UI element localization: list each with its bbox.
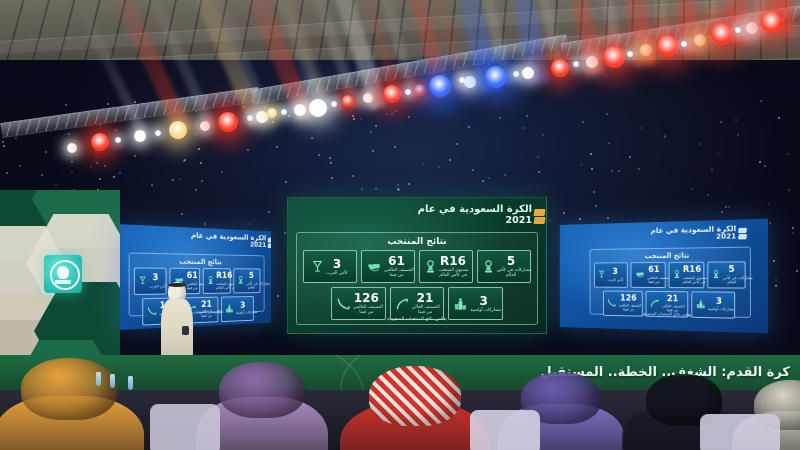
stage-light <box>363 93 373 103</box>
stat-value: 5 <box>246 272 256 280</box>
stat-value: 61 <box>384 255 409 267</box>
stage-light <box>67 143 77 153</box>
stat-value: 3 <box>326 258 347 270</box>
world-cup-trophy-icon <box>713 270 720 279</box>
stat-label: مشاركات أولمبية <box>470 308 497 313</box>
stat-card-text: 5مشاركات في كأسالعالم <box>246 272 256 289</box>
stat-card-text: 21التصنيف الحاليمن فيفا <box>412 292 439 315</box>
audience-member <box>340 366 490 450</box>
world-map-icon <box>367 260 381 274</box>
pin-spot-light <box>115 137 121 143</box>
panel-heading-main: نتائج المنتخب <box>297 233 537 250</box>
stats-panel-main: نتائج المنتخب 3كأس العرب 61التصنيف العال… <box>296 232 538 325</box>
pin-spot-light <box>627 51 633 57</box>
stage-light <box>414 84 426 96</box>
stat-card-text: 5مشاركات في كأسالعالم <box>497 255 525 278</box>
stage-light <box>169 121 187 139</box>
stage-light <box>603 46 625 68</box>
conference-stage-photo: الكرة السعودية في عام 2021 نتائج المنتخب… <box>0 0 800 450</box>
pin-spot-light <box>247 115 253 121</box>
event-diamond-logo-icon <box>738 228 747 242</box>
stage-light <box>640 44 652 56</box>
stat-label: مستوى المنتخبفي كأس العالم <box>216 281 226 289</box>
trophy-cup-icon <box>312 260 323 274</box>
stat-card: 21التصنيف الحاليمن فيفا <box>390 287 445 320</box>
podium-icon <box>696 300 705 309</box>
panel-heading-right: نتائج المنتخب <box>590 248 749 263</box>
stat-card-text: 3كأس العرب <box>326 258 347 276</box>
world-cup-trophy-icon <box>238 276 244 285</box>
podium-icon <box>454 297 467 311</box>
panel-footer-main: يعكس نتائج المنتخبات السعودية <box>297 317 537 322</box>
stat-card-text: R16مستوى المنتخبفي كأس العالم <box>683 266 700 284</box>
slide-left: الكرة السعودية في عام 2021 نتائج المنتخب… <box>120 224 271 330</box>
stat-label: التصنيف العالميمن فيفا <box>384 268 409 278</box>
audience-headwear <box>219 362 305 418</box>
saudi-football-federation-logo <box>44 255 82 293</box>
water-bottle <box>96 372 101 386</box>
stat-card: 3كأس العرب <box>303 250 357 283</box>
stat-value: 21 <box>412 292 439 304</box>
stage-light <box>218 112 238 132</box>
pin-spot-light <box>281 109 287 115</box>
stat-value: R16 <box>683 266 700 275</box>
trophy-cup-icon <box>598 271 604 280</box>
pin-spot-light <box>331 101 337 107</box>
pin-spot-light <box>573 61 579 67</box>
stat-card-text: R16مستوى المنتخبفي كأس العالم <box>439 255 467 278</box>
pin-spot-light <box>155 130 161 136</box>
event-diamond-logo-icon <box>268 238 271 250</box>
stage-light <box>91 133 109 151</box>
stage-light <box>342 95 354 107</box>
stat-value: 3 <box>470 295 497 307</box>
stat-cards-row-1-main: 3كأس العرب 61التصنيف العالميمن فيفا R16م… <box>297 250 537 283</box>
stat-card: 126التصنيف العالميمن فيفا <box>331 287 386 320</box>
trophy-cup-icon <box>139 276 146 286</box>
world-cup-trophy-icon <box>207 276 213 285</box>
stat-card: R16مستوى المنتخبفي كأس العالم <box>202 268 231 294</box>
stage-light <box>586 56 598 68</box>
audience-chair <box>470 410 540 450</box>
stat-label: التصنيف العالميمن فيفا <box>353 305 380 315</box>
stat-value: R16 <box>439 255 467 267</box>
stage-light <box>200 121 210 131</box>
pin-spot-light <box>681 41 687 47</box>
pin-spot-light <box>513 71 519 77</box>
panel-heading-left: نتائج المنتخب <box>130 253 264 268</box>
slide-right: الكرة السعودية في عام 2021 نتائج المنتخب… <box>560 219 768 334</box>
stage-light <box>711 23 733 45</box>
stat-card: R16مستوى المنتخبفي كأس العالم <box>419 250 473 283</box>
stat-card: R16مستوى المنتخبفي كأس العالم <box>668 262 704 288</box>
stats-panel-left: نتائج المنتخب 3كأس العرب 61التصنيف العال… <box>129 252 265 316</box>
stage-light <box>485 66 507 88</box>
presenter-clicker <box>182 326 189 335</box>
world-cup-trophy-icon <box>673 270 680 279</box>
stat-card: 5مشاركات في كأسالعالم <box>708 261 746 288</box>
chart-down-icon <box>608 298 616 307</box>
world-map-icon <box>635 270 644 279</box>
presenter-igal <box>168 283 186 287</box>
audience-headwear <box>369 366 461 426</box>
stat-value: 21 <box>662 295 683 304</box>
stat-label: التصنيف الحاليمن فيفا <box>412 305 439 315</box>
stat-card-text: 61التصنيف العالميمن فيفا <box>647 266 660 284</box>
slide-title-right: الكرة السعودية في عام 2021 <box>651 225 737 242</box>
slide-title-main: الكرة السعودية في عام 2021 <box>418 205 532 225</box>
stat-label: كأس العرب <box>326 271 347 276</box>
slide-title-left: الكرة السعودية في عام 2021 <box>191 232 266 250</box>
right-projection-screen[interactable]: الكرة السعودية في عام 2021 نتائج المنتخب… <box>560 219 768 334</box>
stats-panel-right: نتائج المنتخب 3كأس العرب 61التصنيف العال… <box>590 247 751 318</box>
stat-label: التصنيف العالميمن فيفا <box>647 275 660 283</box>
pin-spot-light <box>459 77 465 83</box>
chart-up-icon <box>651 299 660 308</box>
stage-light <box>746 22 758 34</box>
stat-cards-row-1-left: 3كأس العرب 61التصنيف العالميمن فيفا R16م… <box>130 267 264 295</box>
water-bottle <box>128 376 133 390</box>
stat-cards-row-2-main: 126التصنيف العالميمن فيفا 21التصنيف الحا… <box>297 287 537 320</box>
left-projection-screen[interactable]: الكرة السعودية في عام 2021 نتائج المنتخب… <box>120 224 271 330</box>
stage-light <box>551 59 569 77</box>
stage-light <box>522 67 534 79</box>
stat-card: 61التصنيف العالميمن فيفا <box>361 250 415 283</box>
stat-value: 3 <box>708 297 730 306</box>
stat-value: R16 <box>216 272 226 280</box>
audience-chair <box>700 414 780 450</box>
event-diamond-logo-icon <box>534 209 546 227</box>
stat-label: مشاركات في كأسالعالم <box>497 268 525 278</box>
world-cup-trophy-icon <box>425 260 436 274</box>
stat-card-text: 3مشاركات أولمبية <box>708 297 730 311</box>
stage-light <box>309 99 327 117</box>
stage-light <box>694 34 706 46</box>
audience-member <box>0 358 144 450</box>
stat-card-text: 126التصنيف العالميمن فيفا <box>353 292 380 315</box>
world-cup-trophy-icon <box>483 260 494 274</box>
stat-card: 3كأس العرب <box>594 262 628 287</box>
slide-title-line2: 2021 <box>418 216 532 226</box>
stat-card: 3مشاركات أولمبية <box>448 287 503 320</box>
stage-light <box>464 76 476 88</box>
stage-light <box>383 85 401 103</box>
stat-value: 126 <box>619 294 639 303</box>
chart-up-icon <box>396 297 409 311</box>
stage-light <box>294 104 306 116</box>
audience-chair <box>150 404 220 450</box>
stat-card: 5مشاركات في كأسالعالم <box>477 250 531 283</box>
stat-card: 61التصنيف العالميمن فيفا <box>630 262 665 288</box>
stat-card-text: 5مشاركات في كأسالعالم <box>723 266 740 285</box>
stat-value: 3 <box>608 268 623 276</box>
stat-label: مستوى المنتخبفي كأس العالم <box>683 275 700 283</box>
pin-spot-light <box>405 89 411 95</box>
stage-light <box>267 108 277 118</box>
stat-value: 126 <box>353 292 380 304</box>
stat-value: 61 <box>187 272 195 281</box>
chart-down-icon <box>337 297 350 311</box>
slide-title-line1: الكرة السعودية في عام <box>418 205 532 216</box>
stage-light <box>134 130 146 142</box>
audience-headwear <box>21 358 117 420</box>
stat-value: 5 <box>497 255 525 267</box>
stat-card-text: 3كأس العرب <box>608 268 623 281</box>
stat-card-text: 3مشاركات أولمبية <box>470 295 497 313</box>
stat-card-text: R16مستوى المنتخبفي كأس العالم <box>216 272 226 289</box>
water-bottle <box>110 374 115 388</box>
stat-card-text: 61التصنيف العالميمن فيفا <box>384 255 409 278</box>
stage-light <box>429 75 451 97</box>
stat-card: 5مشاركات في كأسالعالم <box>234 268 261 293</box>
stage-light <box>761 11 783 33</box>
stat-label: كأس العرب <box>608 278 623 282</box>
stat-cards-row-1-right: 3كأس العرب 61التصنيف العالميمن فيفا R16م… <box>590 261 749 288</box>
main-led-screen[interactable]: الكرة السعودية في عام 2021 نتائج المنتخب… <box>287 197 547 334</box>
stage-light <box>657 35 679 57</box>
stat-value: 61 <box>647 266 660 275</box>
stat-label: مشاركات في كأسالعالم <box>246 281 256 289</box>
stat-label: مستوى المنتخبفي كأس العالم <box>439 268 467 278</box>
slide-main: الكرة السعودية في عام 2021 نتائج المنتخب… <box>288 198 546 333</box>
stat-label: مشاركات في كأسالعالم <box>723 275 740 284</box>
pin-spot-light <box>735 27 741 33</box>
stat-value: 5 <box>723 266 740 275</box>
